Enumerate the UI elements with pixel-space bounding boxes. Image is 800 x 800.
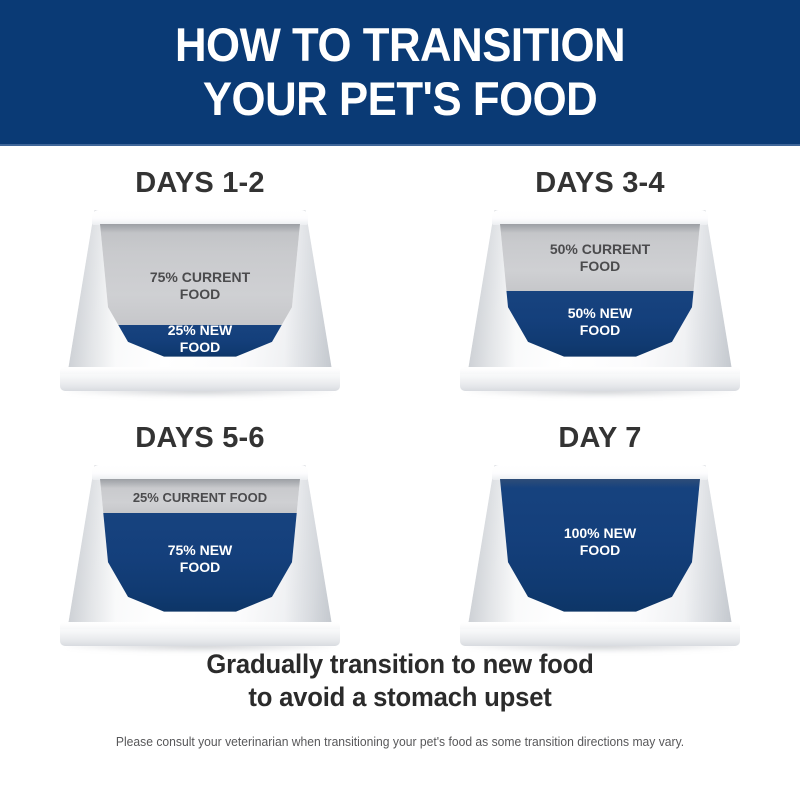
bowl-cavity: 25% CURRENT FOOD 75% NEW FOOD <box>100 479 300 613</box>
step-1-day-label: DAYS 1-2 <box>135 168 264 198</box>
step-4-new-food-label: 100% NEW FOOD <box>500 525 700 559</box>
bowl-base <box>60 622 340 646</box>
step-2-bowl-illustration: 50% CURRENT FOOD 50% NEW FOOD <box>440 210 760 398</box>
transition-step-1: DAYS 1-2 75% CURRENT FOOD 25% NEW FOOD <box>0 168 400 423</box>
bowl-rim <box>92 210 308 225</box>
transition-step-3: DAYS 5-6 25% CURRENT FOOD 75% NEW FOOD <box>0 423 400 668</box>
step-3-new-food-label: 75% NEW FOOD <box>100 542 300 576</box>
transition-step-4: DAY 7 100% NEW FOOD <box>400 423 800 668</box>
step-2-new-food-label: 50% NEW FOOD <box>500 305 700 339</box>
bowl-cavity: 100% NEW FOOD <box>500 479 700 613</box>
step-4-bowl-illustration: 100% NEW FOOD <box>440 465 760 653</box>
bowl-rim <box>492 210 708 225</box>
bowl-rim <box>92 465 308 480</box>
bowl-cavity: 50% CURRENT FOOD 50% NEW FOOD <box>500 224 700 358</box>
step-3-bowl-illustration: 25% CURRENT FOOD 75% NEW FOOD <box>40 465 360 653</box>
step-1-bowl-illustration: 75% CURRENT FOOD 25% NEW FOOD <box>40 210 360 398</box>
bowl-base <box>460 622 740 646</box>
footer-headline-line-2: to avoid a stomach upset <box>20 681 780 714</box>
transition-step-2: DAYS 3-4 50% CURRENT FOOD 50% NEW FOOD <box>400 168 800 423</box>
footer-disclaimer: Please consult your veterinarian when tr… <box>12 734 788 750</box>
step-3-day-label: DAYS 5-6 <box>135 423 264 453</box>
bowl-base <box>460 367 740 391</box>
step-3-current-food-label: 25% CURRENT FOOD <box>100 489 300 506</box>
page-title-line-2: YOUR PET'S FOOD <box>203 72 597 126</box>
page-header: HOW TO TRANSITION YOUR PET'S FOOD <box>0 0 800 146</box>
step-2-current-food-label: 50% CURRENT FOOD <box>500 241 700 275</box>
footer-headline-line-1: Gradually transition to new food <box>20 648 780 681</box>
bowl-base <box>60 367 340 391</box>
step-2-day-label: DAYS 3-4 <box>535 168 664 198</box>
step-4-day-label: DAY 7 <box>558 423 641 453</box>
page-footer: Gradually transition to new food to avoi… <box>0 646 800 750</box>
step-1-current-food-label: 75% CURRENT FOOD <box>100 269 300 303</box>
bowl-rim <box>492 465 708 480</box>
transition-steps-grid: DAYS 1-2 75% CURRENT FOOD 25% NEW FOOD D… <box>0 146 800 646</box>
page-title-line-1: HOW TO TRANSITION <box>175 18 625 72</box>
bowl-cavity: 75% CURRENT FOOD 25% NEW FOOD <box>100 224 300 358</box>
